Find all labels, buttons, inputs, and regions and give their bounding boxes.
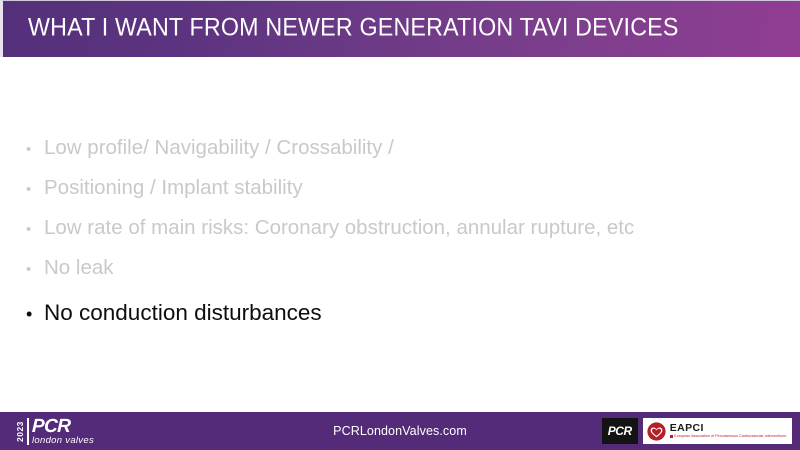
eapci-subtitle: European Association of Percutaneous Car… <box>670 434 786 439</box>
eapci-square-icon <box>670 435 673 438</box>
eapci-partner-logo: EAPCI European Association of Percutaneo… <box>643 418 792 444</box>
bullet-dot-icon: • <box>26 211 44 249</box>
bullet-list: • Low profile/ Navigability / Crossabili… <box>26 129 786 336</box>
presentation-slide: WHAT I WANT FROM NEWER GENERATION TAVI D… <box>0 0 800 450</box>
list-item: • Positioning / Implant stability <box>26 169 786 209</box>
eapci-text-block: EAPCI European Association of Percutaneo… <box>670 423 786 439</box>
list-item-label: No conduction disturbances <box>44 291 322 335</box>
bullet-dot-icon: • <box>26 292 44 336</box>
bullet-dot-icon: • <box>26 171 44 209</box>
slide-body: • Low profile/ Navigability / Crossabili… <box>0 57 800 412</box>
slide-header-bar: WHAT I WANT FROM NEWER GENERATION TAVI D… <box>0 0 800 57</box>
list-item-label: No leak <box>44 249 114 287</box>
heart-icon <box>647 422 666 441</box>
pcr-partner-logo: PCR <box>602 418 638 444</box>
list-item-emphasized: • No conduction disturbances <box>26 291 786 336</box>
list-item: • No leak <box>26 249 786 289</box>
bullet-dot-icon: • <box>26 131 44 169</box>
bullet-dot-icon: • <box>26 251 44 289</box>
list-item: • Low profile/ Navigability / Crossabili… <box>26 129 786 169</box>
list-item-label: Low profile/ Navigability / Crossability… <box>44 129 394 167</box>
list-item: • Low rate of main risks: Coronary obstr… <box>26 209 786 249</box>
page-title: WHAT I WANT FROM NEWER GENERATION TAVI D… <box>28 14 679 43</box>
list-item-label: Positioning / Implant stability <box>44 169 303 207</box>
slide-footer-bar: 2023 PCR london valves PCRLondonValves.c… <box>0 412 800 450</box>
list-item-label: Low rate of main risks: Coronary obstruc… <box>44 209 634 247</box>
eapci-name-label: EAPCI <box>670 423 786 434</box>
eapci-subtitle-label: European Association of Percutaneous Car… <box>674 434 786 439</box>
footer-partner-logos: PCR EAPCI European Association of Percut… <box>602 417 792 445</box>
